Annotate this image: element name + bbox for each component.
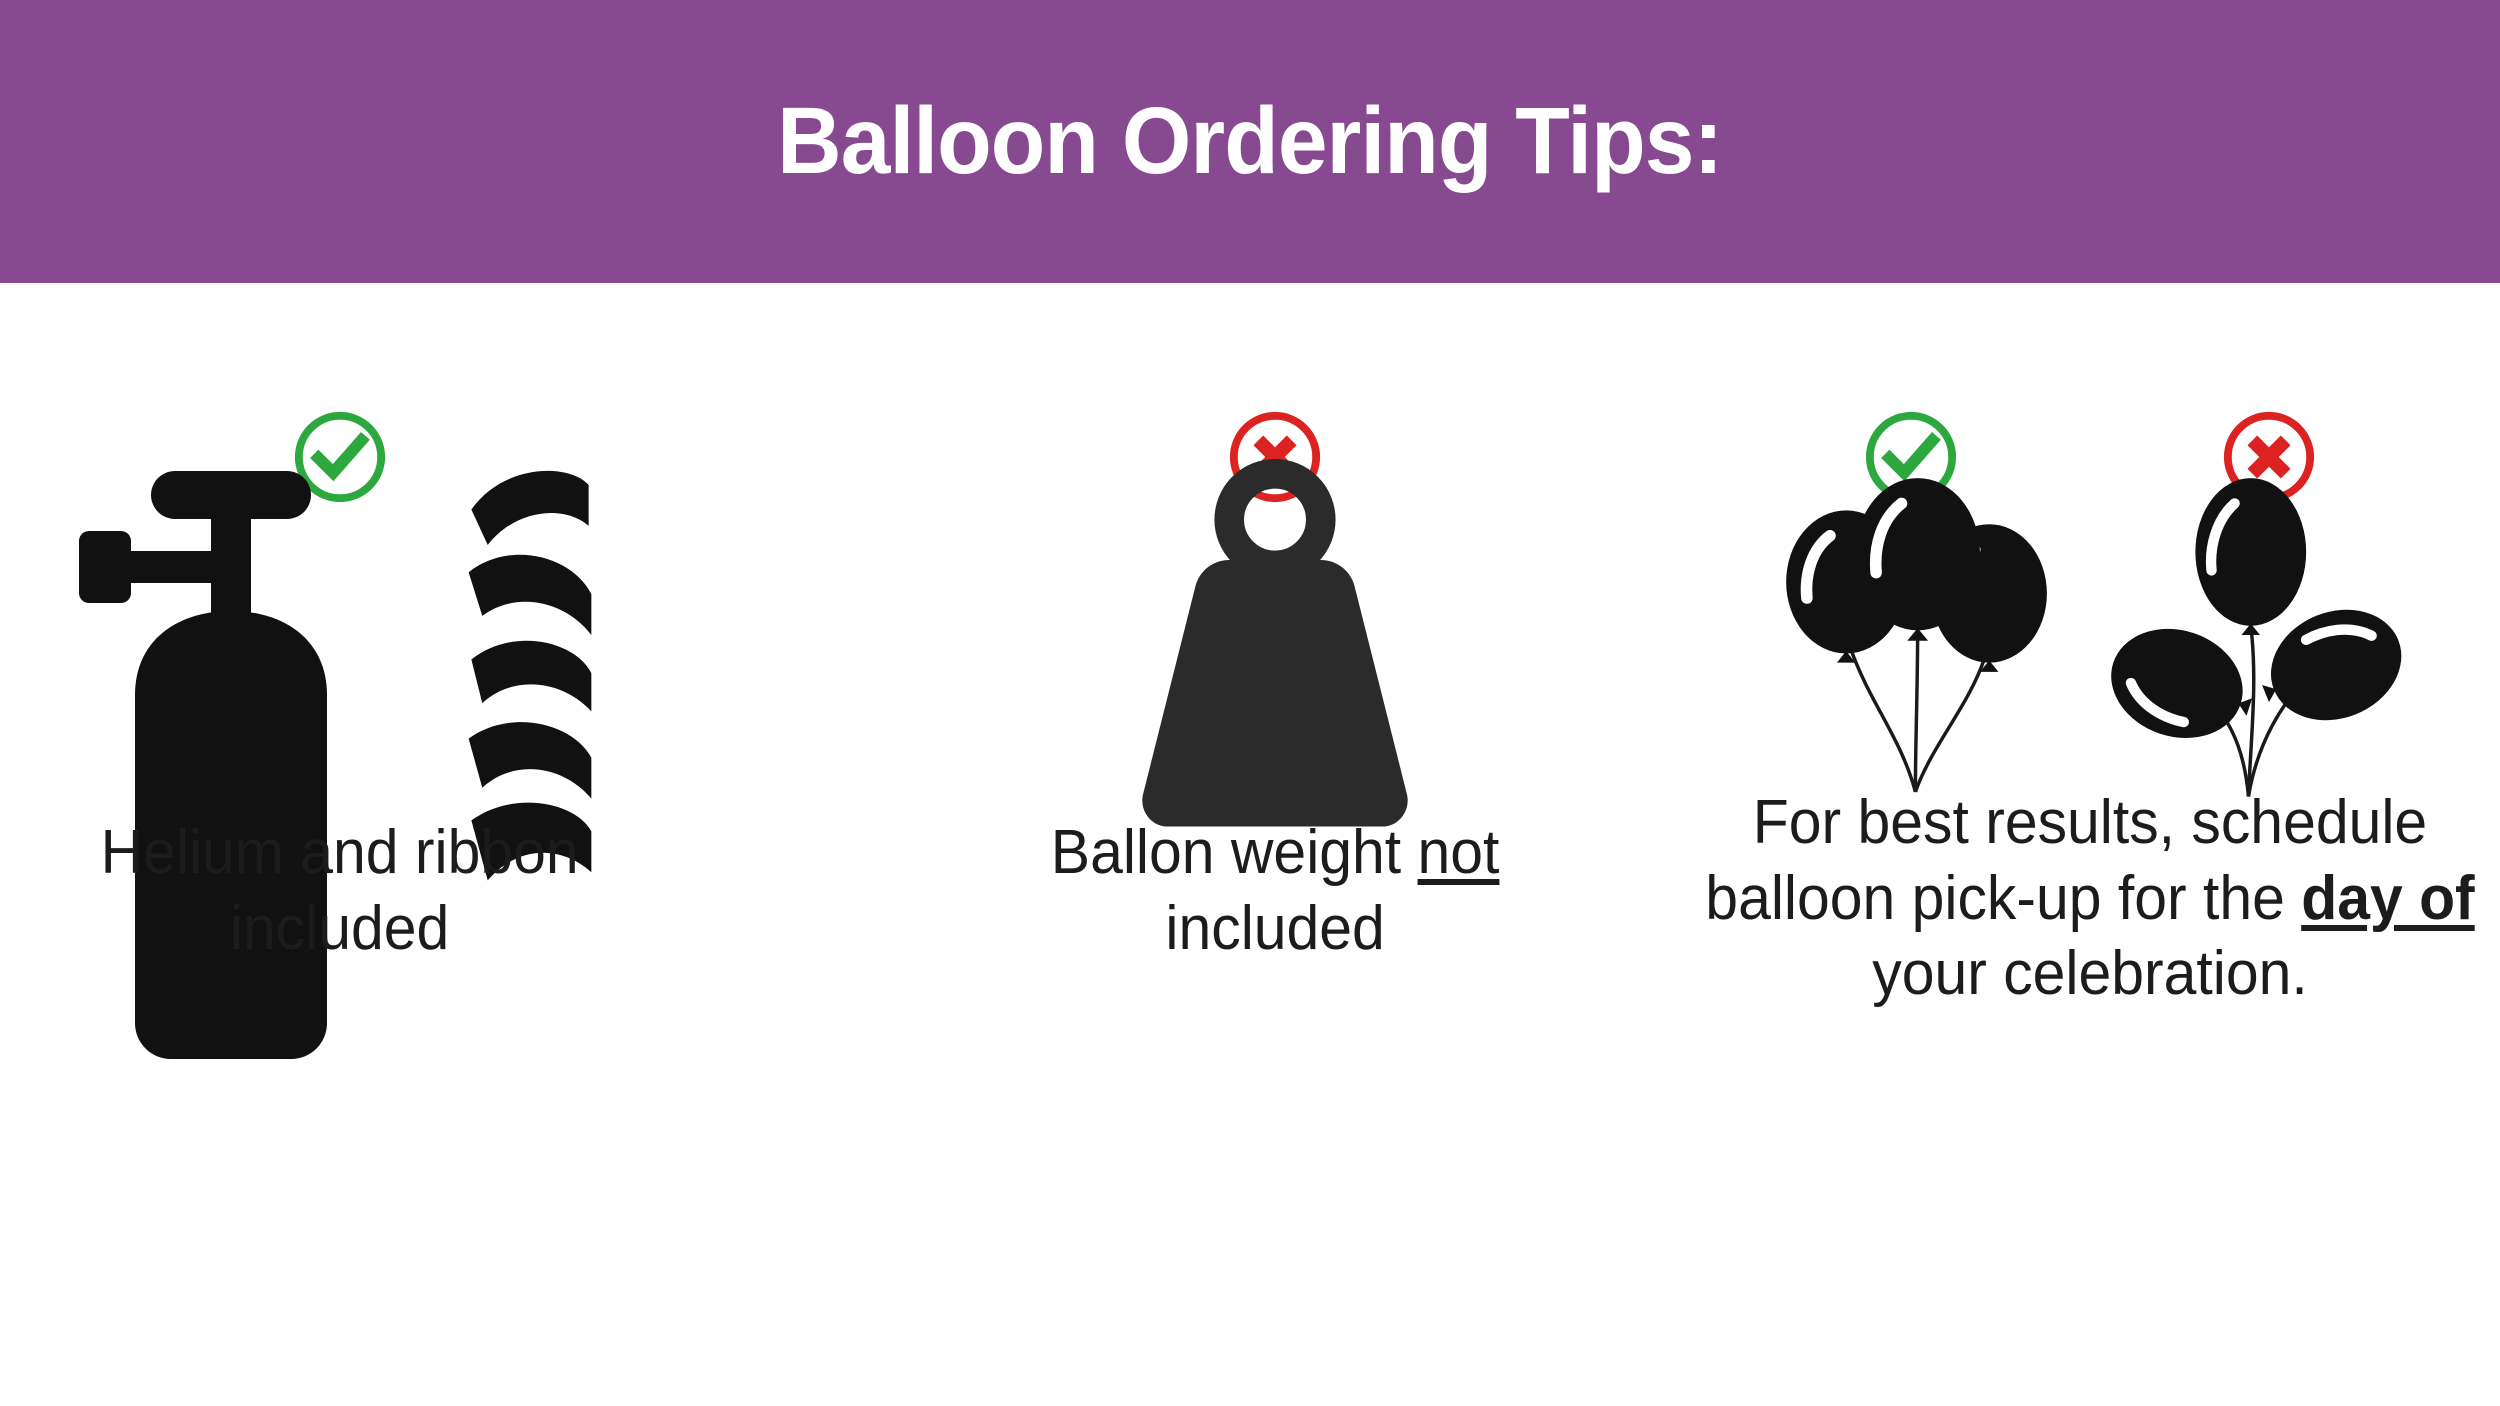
badge-row xyxy=(935,283,1615,433)
poster-canvas: Balloon Ordering Tips: xyxy=(0,0,2500,1406)
caption-line-2: included xyxy=(230,894,449,963)
art-row xyxy=(0,455,680,775)
curled-ribbon-icon xyxy=(455,455,605,775)
helium-tank-icon xyxy=(75,455,415,775)
tip-helium-ribbon: Helium and ribbon included xyxy=(0,283,680,966)
tips-container: Helium and ribbon included xyxy=(0,283,2500,1406)
tip-caption: Helium and ribbon included xyxy=(101,815,579,966)
caption-part-2: your celebration. xyxy=(1872,939,2307,1008)
deflated-balloons-icon xyxy=(2110,455,2410,775)
art-row xyxy=(935,455,1615,775)
caption-line-2: included xyxy=(1165,894,1384,963)
tip-caption: Ballon weight not included xyxy=(1051,815,1500,966)
tip-balloon-weight: Ballon weight not included xyxy=(935,283,1615,966)
caption-line-1: Helium and ribbon xyxy=(101,818,579,887)
caption-line-1: Ballon weight xyxy=(1051,818,1418,887)
caption-emphasis-not: not xyxy=(1417,818,1499,887)
tip-pickup-timing: For best results, schedule balloon pick-… xyxy=(1680,283,2500,1012)
tip-caption: For best results, schedule balloon pick-… xyxy=(1701,785,2480,1012)
balloon-weight-icon xyxy=(1100,455,1450,775)
page-title: Balloon Ordering Tips: xyxy=(777,94,1722,189)
caption-emphasis-day-of: day of xyxy=(2301,864,2474,933)
inflated-balloons-icon xyxy=(1770,455,2070,775)
art-row xyxy=(1680,455,2500,775)
badge-row xyxy=(0,283,680,433)
badge-row xyxy=(1680,283,2500,433)
header-band: Balloon Ordering Tips: xyxy=(0,0,2500,283)
